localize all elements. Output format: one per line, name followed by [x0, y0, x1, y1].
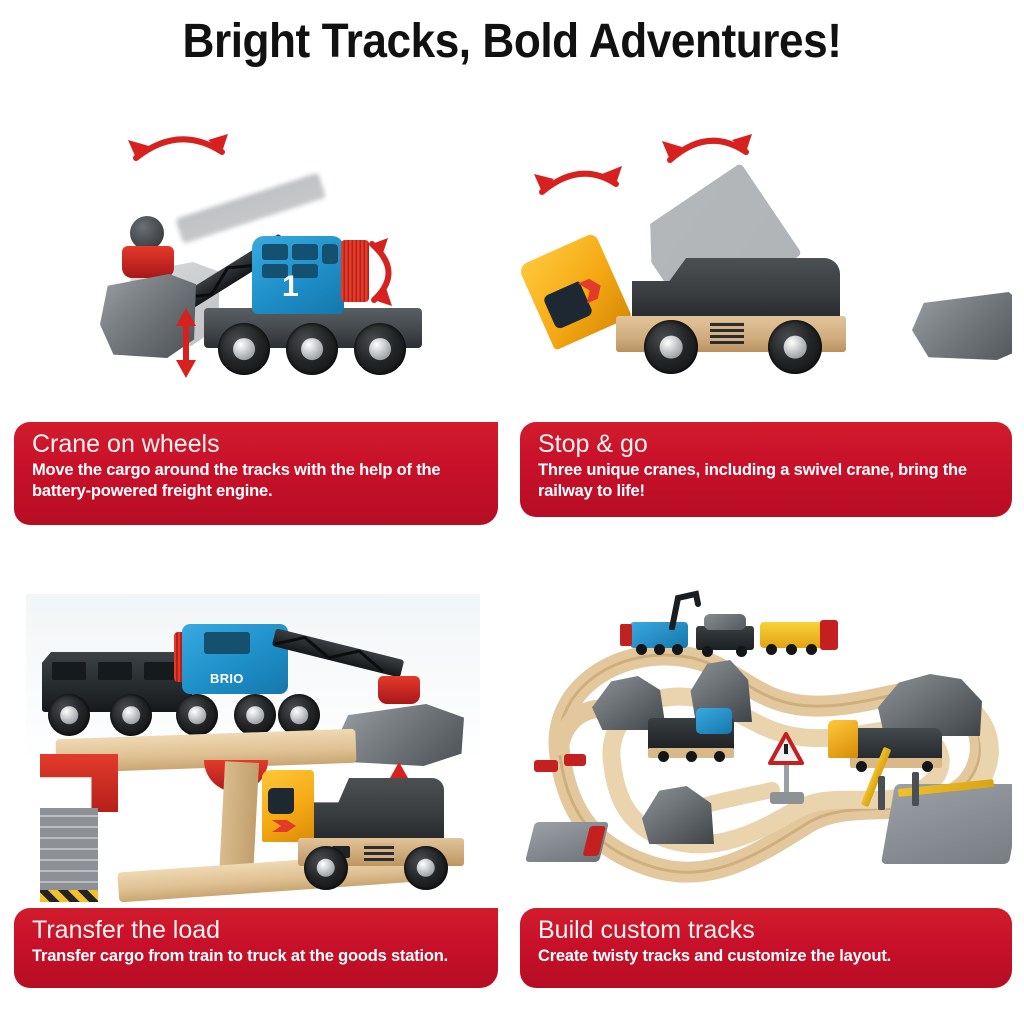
crane-cab-number: 1 — [282, 272, 299, 302]
station-bracket — [40, 754, 118, 812]
feature-panel-build-custom-tracks: Build custom tracks Create twisty tracks… — [520, 586, 1012, 1004]
feature-panel-stop-and-go: Stop & go Three unique cranes, including… — [520, 112, 1012, 524]
caption-banner-crane-on-wheels: Crane on wheels Move the cargo around th… — [14, 422, 498, 525]
wheel — [110, 694, 152, 736]
feature-panel-crane-on-wheels: 1 Crane on wheels Move the cargo around … — [14, 112, 498, 524]
up-down-arrow-icon — [174, 308, 198, 378]
track-buffer — [564, 754, 586, 766]
crane-boom-ghost — [175, 173, 326, 244]
illustration-crane-car: 1 — [14, 112, 498, 417]
sign-base — [770, 792, 804, 804]
warning-triangle-icon — [768, 732, 804, 766]
caption-banner-stop-and-go: Stop & go Three unique cranes, including… — [520, 422, 1012, 517]
wheel — [176, 694, 218, 736]
caption-title: Transfer the load — [32, 916, 484, 944]
wheel — [768, 320, 822, 374]
page-title: Bright Tracks, Bold Adventures! — [41, 14, 983, 69]
wheel — [404, 846, 448, 890]
illustration-goods-station: BRIO — [26, 594, 480, 904]
barrier-post — [878, 776, 885, 810]
cargo-load — [338, 704, 464, 766]
product-photo-goods-station: BRIO — [14, 586, 498, 916]
wheel — [644, 320, 698, 374]
train-tanker-wagon — [760, 622, 824, 648]
track-pillar — [219, 761, 259, 879]
feature-panel-transfer-the-load: BRIO — [14, 586, 498, 1004]
product-photo-crane-on-wheels: 1 — [14, 112, 498, 417]
wheel — [218, 323, 270, 375]
rotate-arrow-icon — [124, 122, 234, 172]
dump-bed — [312, 778, 444, 842]
track-buffer — [534, 760, 558, 772]
caption-title: Build custom tracks — [538, 916, 998, 944]
product-photo-track-layout — [520, 586, 1012, 916]
caption-body: Three unique cranes, including a swivel … — [538, 460, 998, 502]
rotate-arrow-icon — [660, 126, 756, 170]
rotate-arrow-icon — [534, 158, 626, 202]
hazard-stripe — [40, 890, 98, 902]
brio-crane-wagon: BRIO — [182, 624, 288, 694]
crane-arm-icon — [666, 588, 702, 630]
promo-page: Bright Tracks, Bold Adventures! — [0, 0, 1024, 1024]
dump-truck — [850, 728, 942, 760]
caption-banner-transfer-the-load: Transfer the load Transfer cargo from tr… — [14, 908, 498, 988]
wheel — [48, 694, 90, 736]
caption-title: Crane on wheels — [32, 430, 484, 458]
wheel — [234, 694, 276, 736]
caption-body: Move the cargo around the tracks with th… — [32, 460, 484, 502]
crane-magnet — [378, 676, 420, 704]
caption-banner-build-custom-tracks: Build custom tracks Create twisty tracks… — [520, 908, 1012, 988]
truck-cab — [262, 770, 314, 842]
wheel — [354, 323, 406, 375]
barrier-post — [912, 772, 919, 806]
crane-winch-drum — [341, 240, 369, 302]
train-rock-wagon — [696, 626, 754, 650]
brio-logo: BRIO — [210, 671, 244, 686]
caption-body: Transfer cargo from train to truck at th… — [32, 946, 484, 967]
caption-body: Create twisty tracks and customize the l… — [538, 946, 998, 967]
caption-title: Stop & go — [538, 430, 998, 458]
cargo-rock — [912, 292, 1012, 360]
crane-boom — [272, 628, 404, 677]
crane-magnet — [122, 246, 174, 278]
product-photo-dump-truck — [520, 112, 1012, 417]
crane-cab: 1 — [252, 236, 344, 314]
rotate-arrow-icon — [366, 236, 408, 308]
wheel — [304, 846, 348, 890]
brick-tower — [40, 808, 98, 892]
station-ramp — [525, 822, 609, 862]
illustration-track-layout — [520, 586, 1012, 916]
crane-pulley — [130, 216, 164, 250]
wheel — [286, 323, 338, 375]
illustration-dump-truck — [520, 112, 1012, 417]
train-engine — [648, 718, 734, 752]
